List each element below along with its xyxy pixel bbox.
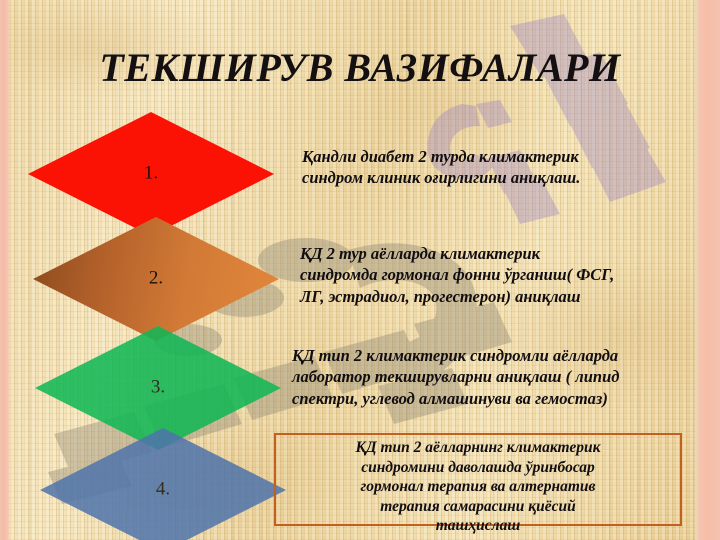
step-number-3: 3. <box>35 377 281 399</box>
step-text-4-line-1: ҚД тип 2 аёлларнинг климактерик <box>282 438 674 458</box>
step-text-1-line-1: Қандли диабет 2 турда климактерик <box>302 146 684 167</box>
step-text-4-line-3: гормонал терапия ва алтернатив <box>282 477 674 497</box>
step-text-1-line-2: синдром клиник оғирлигини аниқлаш. <box>302 167 684 188</box>
step-text-2-line-3: ЛГ, эстрадиол, прогестерон) аниқлаш <box>300 286 692 307</box>
step-text-3-line-2: лаборатор текширувларни аниқлаш ( липид <box>292 366 694 387</box>
presentation-slide: ТЕКШИРУВ ВАЗИФАЛАРИ 1. 2. 3. 4. Қандли д… <box>0 0 720 540</box>
right-edge-band <box>698 0 720 540</box>
step-text-4-line-2: синдромини даволашда ўринбосар <box>282 458 674 478</box>
step-text-3-line-1: ҚД тип 2 климактерик синдромли аёлларда <box>292 345 694 366</box>
step-text-1: Қандли диабет 2 турда климактерик синдро… <box>302 146 684 189</box>
step-text-2-line-2: синдромда гормонал фонни ўрганиш( ФСГ, <box>300 264 692 285</box>
left-edge-band <box>0 0 9 540</box>
step-text-4-line-5: ташҳислаш <box>282 516 674 536</box>
step-text-2-line-1: ҚД 2 тур аёлларда климактерик <box>300 243 692 264</box>
slide-title: ТЕКШИРУВ ВАЗИФАЛАРИ <box>40 44 680 92</box>
step-text-3: ҚД тип 2 климактерик синдромли аёлларда … <box>292 345 694 409</box>
step-number-4: 4. <box>40 479 286 501</box>
step-text-4-line-4: терапия самарасини қиёсий <box>282 497 674 517</box>
step-text-2: ҚД 2 тур аёлларда климактерик синдромда … <box>300 243 692 307</box>
step-number-1: 1. <box>28 163 274 185</box>
step-text-box-4: ҚД тип 2 аёлларнинг климактерик синдроми… <box>274 433 682 526</box>
step-text-4: ҚД тип 2 аёлларнинг климактерик синдроми… <box>282 438 674 536</box>
step-text-3-line-3: спектри, углевод алмашинуви ва гемостаз) <box>292 388 694 409</box>
step-number-2: 2. <box>33 268 279 290</box>
